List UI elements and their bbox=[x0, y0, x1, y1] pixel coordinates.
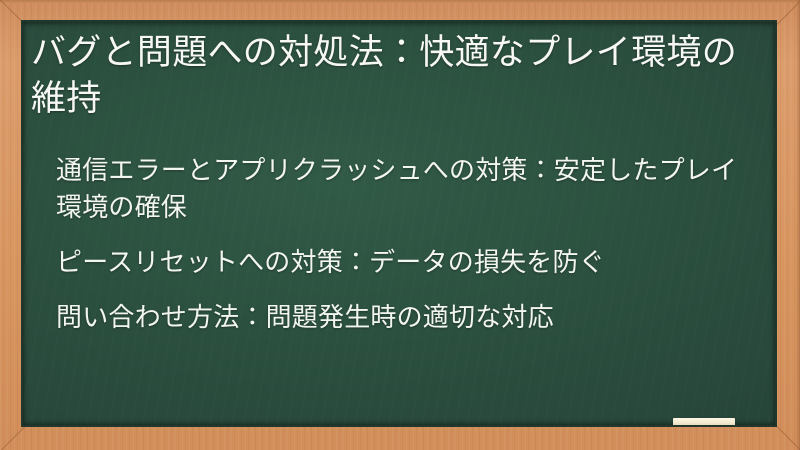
list-item: 通信エラーとアプリクラッシュへの対策：安定したプレイ環境の確保 bbox=[56, 152, 756, 226]
slide-content: バグと問題への対処法：快適なプレイ環境の維持 通信エラーとアプリクラッシュへの対… bbox=[23, 22, 775, 425]
list-item: 問い合わせ方法：問題発生時の適切な対応 bbox=[56, 299, 756, 336]
list-item: ピースリセットへの対策：データの損失を防ぐ bbox=[56, 244, 756, 281]
chalk-stick-icon bbox=[673, 418, 735, 425]
chalkboard-surface: バグと問題への対処法：快適なプレイ環境の維持 通信エラーとアプリクラッシュへの対… bbox=[23, 22, 775, 425]
bullet-list: 通信エラーとアプリクラッシュへの対策：安定したプレイ環境の確保 ピースリセットへ… bbox=[56, 152, 756, 336]
slide-title: バグと問題への対処法：快適なプレイ環境の維持 bbox=[31, 30, 747, 122]
chalkboard-slide: バグと問題への対処法：快適なプレイ環境の維持 通信エラーとアプリクラッシュへの対… bbox=[0, 0, 800, 450]
